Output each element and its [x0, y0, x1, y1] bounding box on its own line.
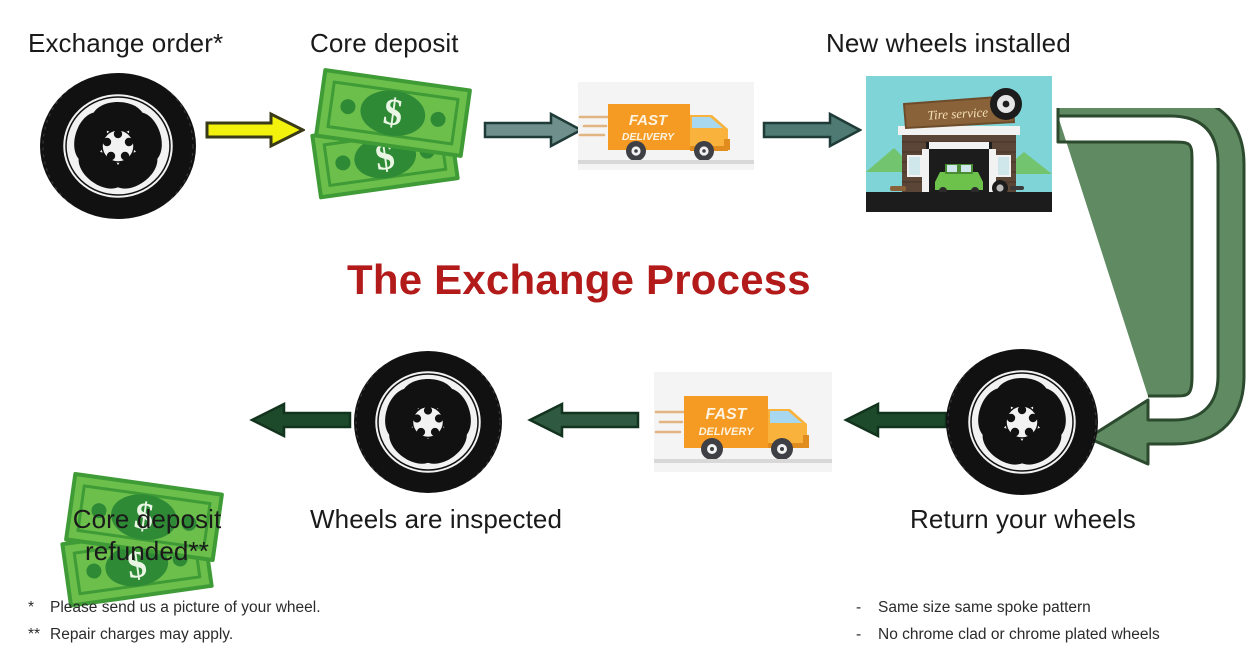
arrow-return-to-truck — [840, 400, 948, 440]
footnote-marker: - — [856, 621, 878, 648]
step-label-core-deposit: Core deposit — [310, 28, 459, 60]
shop-sign-text: Tire service — [927, 104, 988, 122]
delivery-truck-icon: FAST DELIVERY — [654, 372, 832, 472]
money-icon: $ $ — [308, 76, 478, 204]
footnote-item: *Please send us a picture of your wheel. — [28, 594, 321, 621]
step-label-wheels-are-inspected: Wheels are inspected — [310, 504, 562, 536]
footnote-item: -No chrome clad or chrome plated wheels — [856, 621, 1160, 648]
exchange-process-diagram: Exchange order* Core deposit New wheels … — [0, 0, 1250, 666]
footnotes-right: -Same size same spoke pattern -No chrome… — [856, 594, 1160, 648]
footnote-text: Same size same spoke pattern — [878, 599, 1091, 616]
footnote-text: Repair charges may apply. — [50, 626, 233, 643]
wheel-icon — [352, 350, 504, 494]
arrow-order-to-deposit — [205, 110, 305, 150]
truck-text-line1: FAST — [706, 406, 748, 423]
wheel-icon — [38, 72, 198, 220]
page-title: The Exchange Process — [347, 256, 811, 304]
tire-service-shop-icon: Tire service — [866, 76, 1052, 212]
footnote-marker: ** — [28, 621, 50, 648]
step-label-core-deposit-refunded: Core deposit refunded** — [32, 504, 262, 567]
step-label-new-wheels-installed: New wheels installed — [826, 28, 1071, 60]
footnote-item: **Repair charges may apply. — [28, 621, 321, 648]
truck-text-line2: DELIVERY — [699, 426, 755, 438]
step-label-exchange-order: Exchange order* — [28, 28, 223, 60]
footnotes-left: *Please send us a picture of your wheel.… — [28, 594, 321, 648]
arrow-deposit-to-truck — [483, 110, 583, 150]
truck-text-line2: DELIVERY — [622, 131, 675, 143]
wheel-icon — [944, 348, 1100, 496]
footnote-text: No chrome clad or chrome plated wheels — [878, 626, 1160, 643]
arrow-truck-to-inspected — [524, 400, 640, 440]
delivery-truck-icon: FAST DELIVERY — [578, 82, 754, 170]
footnote-text: Please send us a picture of your wheel. — [50, 599, 321, 616]
footnote-marker: - — [856, 594, 878, 621]
footnote-item: -Same size same spoke pattern — [856, 594, 1160, 621]
arrow-inspected-to-refund — [246, 400, 352, 440]
arrow-truck-to-shop — [762, 110, 862, 150]
truck-text-line1: FAST — [629, 112, 669, 129]
footnote-marker: * — [28, 594, 50, 621]
step-label-return-your-wheels: Return your wheels — [910, 504, 1136, 536]
